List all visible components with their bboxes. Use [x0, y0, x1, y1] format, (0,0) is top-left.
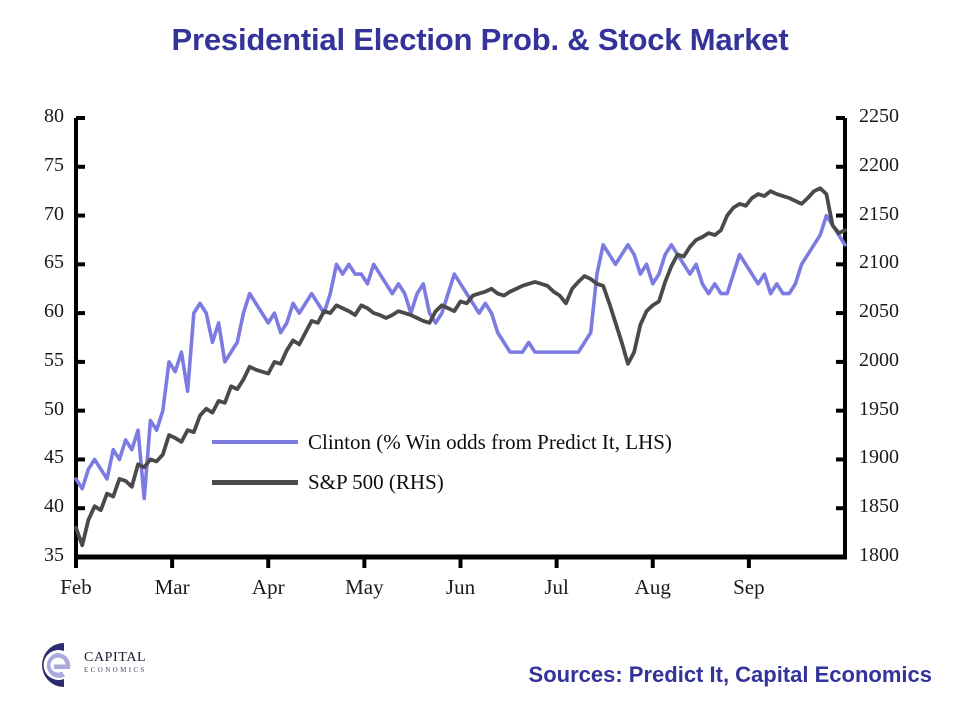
capital-economics-logo: CAPITAL ECONOMICS	[24, 636, 194, 702]
y-left-tick-label: 55	[6, 349, 64, 372]
x-tick-label: Sep	[709, 575, 789, 600]
y-left-tick-label: 50	[6, 398, 64, 421]
x-tick-label: Mar	[132, 575, 212, 600]
logo-wordmark: CAPITAL ECONOMICS	[84, 651, 147, 674]
source-note: Sources: Predict It, Capital Economics	[529, 662, 932, 688]
y-right-tick-label: 2150	[859, 203, 929, 226]
y-right-tick-label: 1900	[859, 446, 929, 469]
y-right-tick-label: 2100	[859, 251, 929, 274]
x-tick-label: Jul	[517, 575, 597, 600]
y-left-tick-label: 35	[6, 544, 64, 567]
chart-legend: Clinton (% Win odds from Predict It, LHS…	[212, 422, 672, 502]
y-right-tick-label: 1950	[859, 398, 929, 421]
legend-swatch-clinton-icon	[212, 440, 298, 444]
y-left-tick-label: 75	[6, 154, 64, 177]
legend-item-clinton: Clinton (% Win odds from Predict It, LHS…	[212, 422, 672, 462]
y-left-tick-label: 60	[6, 300, 64, 323]
logo-capital-text: CAPITAL	[84, 651, 147, 665]
x-tick-label: May	[324, 575, 404, 600]
y-left-tick-label: 65	[6, 251, 64, 274]
ce-monogram-icon	[24, 636, 82, 694]
y-right-tick-label: 2000	[859, 349, 929, 372]
y-right-tick-label: 1800	[859, 544, 929, 567]
legend-swatch-sp500-icon	[212, 480, 298, 485]
legend-label-clinton: Clinton (% Win odds from Predict It, LHS…	[308, 430, 672, 455]
y-right-tick-label: 2250	[859, 105, 929, 128]
x-tick-label: Apr	[228, 575, 308, 600]
y-left-tick-label: 45	[6, 446, 64, 469]
x-tick-label: Feb	[36, 575, 116, 600]
chart-plot-area	[0, 0, 960, 720]
y-left-tick-label: 70	[6, 203, 64, 226]
logo-economics-text: ECONOMICS	[84, 667, 147, 674]
legend-item-sp500: S&P 500 (RHS)	[212, 462, 672, 502]
y-left-tick-label: 80	[6, 105, 64, 128]
y-right-tick-label: 2050	[859, 300, 929, 323]
y-right-tick-label: 1850	[859, 495, 929, 518]
y-right-tick-label: 2200	[859, 154, 929, 177]
y-left-tick-label: 40	[6, 495, 64, 518]
x-tick-label: Aug	[613, 575, 693, 600]
legend-label-sp500: S&P 500 (RHS)	[308, 470, 444, 495]
chart-svg	[0, 0, 960, 720]
x-tick-label: Jun	[421, 575, 501, 600]
